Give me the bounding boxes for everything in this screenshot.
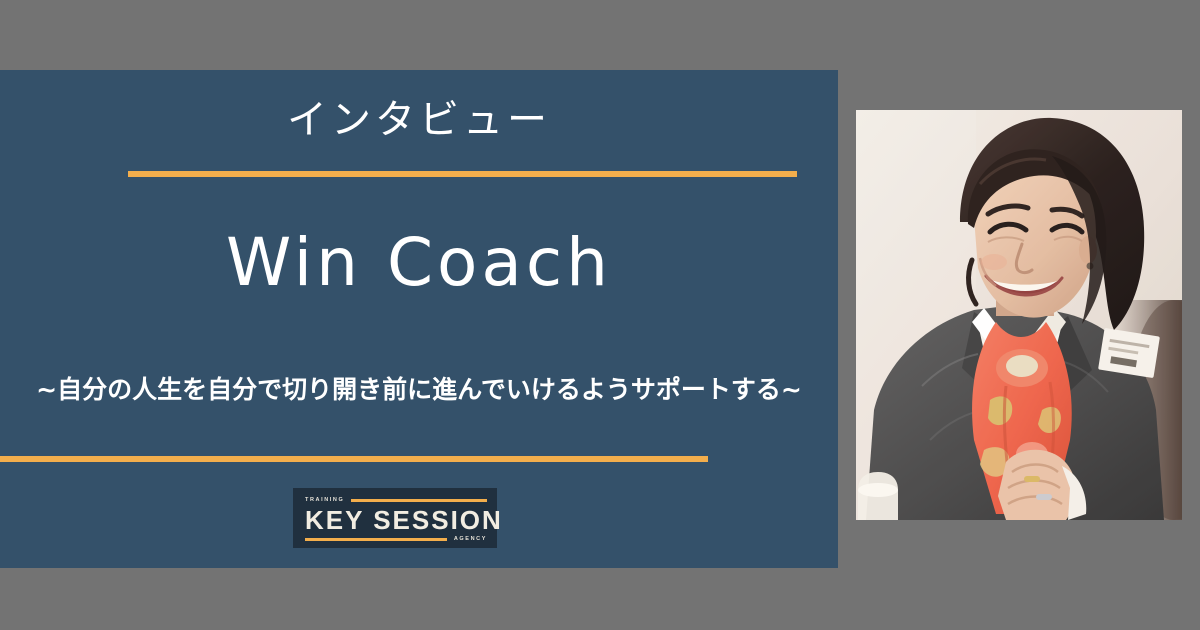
interviewee-photo [856,110,1182,520]
interviewee-photo-illustration [856,110,1182,520]
logo-subscript-label: AGENCY [454,537,487,543]
logo-bottom-row: AGENCY [305,535,487,544]
gold-divider-top-icon [128,171,797,177]
logo-rule-top-icon [351,499,487,502]
key-session-logo: TRAINING KEY SESSION AGENCY [293,488,497,548]
logo-eyebrow-label: TRAINING [305,498,344,504]
logo-rule-bottom-icon [305,538,447,541]
poster-canvas: インタビュー Win Coach ~自分の人生を自分で切り開き前に進んでいけるよ… [0,0,1200,630]
card-subtitle: ~自分の人生を自分で切り開き前に進んでいけるようサポートする~ [0,374,838,407]
logo-wordmark: KEY SESSION [305,507,487,533]
gold-divider-bottom-icon [0,456,708,462]
page-title: Win Coach [0,224,838,302]
card-kicker: インタビュー [0,96,838,144]
logo-top-row: TRAINING [305,496,487,505]
